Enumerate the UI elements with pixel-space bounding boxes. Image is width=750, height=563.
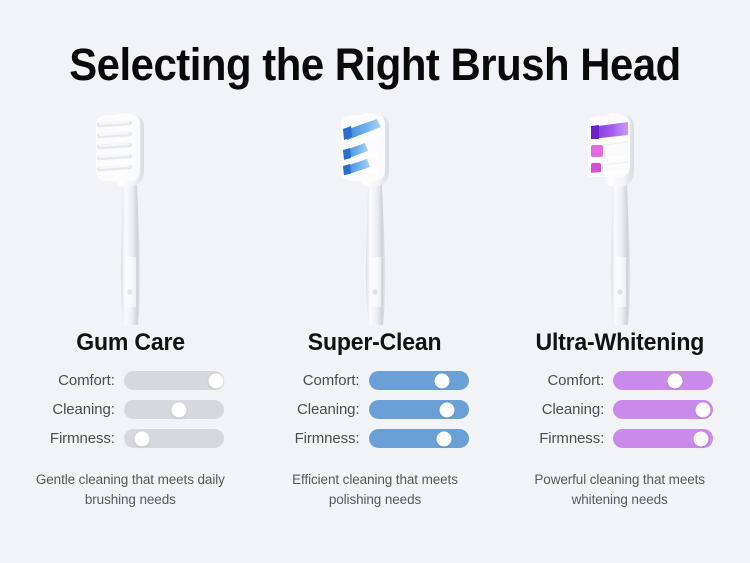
attribute-sliders: Comfort: Cleaning: Firmness: [282, 371, 469, 448]
product-description: Powerful cleaning that meets whitening n… [517, 470, 722, 509]
attribute-sliders: Comfort: Cleaning: Firmness: [37, 371, 224, 448]
slider-knob[interactable] [171, 402, 186, 417]
product-name: Super-Clean [308, 329, 442, 357]
slider-knob[interactable] [208, 373, 223, 388]
comfort-slider[interactable] [124, 371, 224, 390]
attribute-label: Comfort: [526, 372, 604, 389]
slider-knob[interactable] [434, 373, 449, 388]
brush-head-image-gum-care [82, 99, 178, 327]
attribute-row-firmness: Firmness: [282, 429, 469, 448]
slider-knob[interactable] [694, 431, 709, 446]
attribute-row-comfort: Comfort: [37, 371, 224, 390]
attribute-label: Comfort: [282, 372, 360, 389]
cleaning-slider[interactable] [369, 400, 469, 419]
product-card-ultra-whitening[interactable]: Ultra-Whitening Comfort: Cleaning: Firmn… [497, 99, 742, 563]
attribute-label: Firmness: [282, 430, 360, 447]
brush-head-image-ultra-whitening [572, 99, 668, 327]
attribute-row-comfort: Comfort: [526, 371, 713, 390]
attribute-label: Firmness: [37, 430, 115, 447]
attribute-row-cleaning: Cleaning: [526, 400, 713, 419]
slider-knob[interactable] [134, 431, 149, 446]
attribute-label: Firmness: [526, 430, 604, 447]
page-title: Selecting the Right Brush Head [26, 42, 724, 87]
product-description: Gentle cleaning that meets daily brushin… [28, 470, 233, 509]
attribute-row-cleaning: Cleaning: [282, 400, 469, 419]
comfort-slider[interactable] [613, 371, 713, 390]
product-name: Gum Care [76, 329, 185, 357]
brush-head-comparison-poster: Selecting the Right Brush Head [0, 0, 750, 563]
cleaning-slider[interactable] [124, 400, 224, 419]
attribute-label: Cleaning: [282, 401, 360, 418]
toothbrush-head-icon [327, 107, 423, 327]
attribute-sliders: Comfort: Cleaning: Firmness: [526, 371, 713, 448]
brush-head-image-super-clean [327, 99, 423, 327]
slider-knob[interactable] [436, 431, 451, 446]
attribute-row-cleaning: Cleaning: [37, 400, 224, 419]
product-card-gum-care[interactable]: Gum Care Comfort: Cleaning: Firmness: [8, 99, 253, 563]
attribute-label: Cleaning: [37, 401, 115, 418]
attribute-label: Cleaning: [526, 401, 604, 418]
attribute-row-comfort: Comfort: [282, 371, 469, 390]
slider-knob[interactable] [696, 402, 711, 417]
firmness-slider[interactable] [369, 429, 469, 448]
product-columns: Gum Care Comfort: Cleaning: Firmness: [0, 99, 750, 563]
product-description: Efficient cleaning that meets polishing … [273, 470, 478, 509]
toothbrush-head-icon [572, 107, 668, 327]
attribute-row-firmness: Firmness: [37, 429, 224, 448]
comfort-slider[interactable] [369, 371, 469, 390]
product-card-super-clean[interactable]: Super-Clean Comfort: Cleaning: Firmness: [253, 99, 498, 563]
firmness-slider[interactable] [124, 429, 224, 448]
slider-knob[interactable] [439, 402, 454, 417]
slider-knob[interactable] [668, 373, 683, 388]
product-name: Ultra-Whitening [535, 329, 704, 357]
attribute-label: Comfort: [37, 372, 115, 389]
cleaning-slider[interactable] [613, 400, 713, 419]
attribute-row-firmness: Firmness: [526, 429, 713, 448]
toothbrush-head-icon [82, 107, 178, 327]
firmness-slider[interactable] [613, 429, 713, 448]
